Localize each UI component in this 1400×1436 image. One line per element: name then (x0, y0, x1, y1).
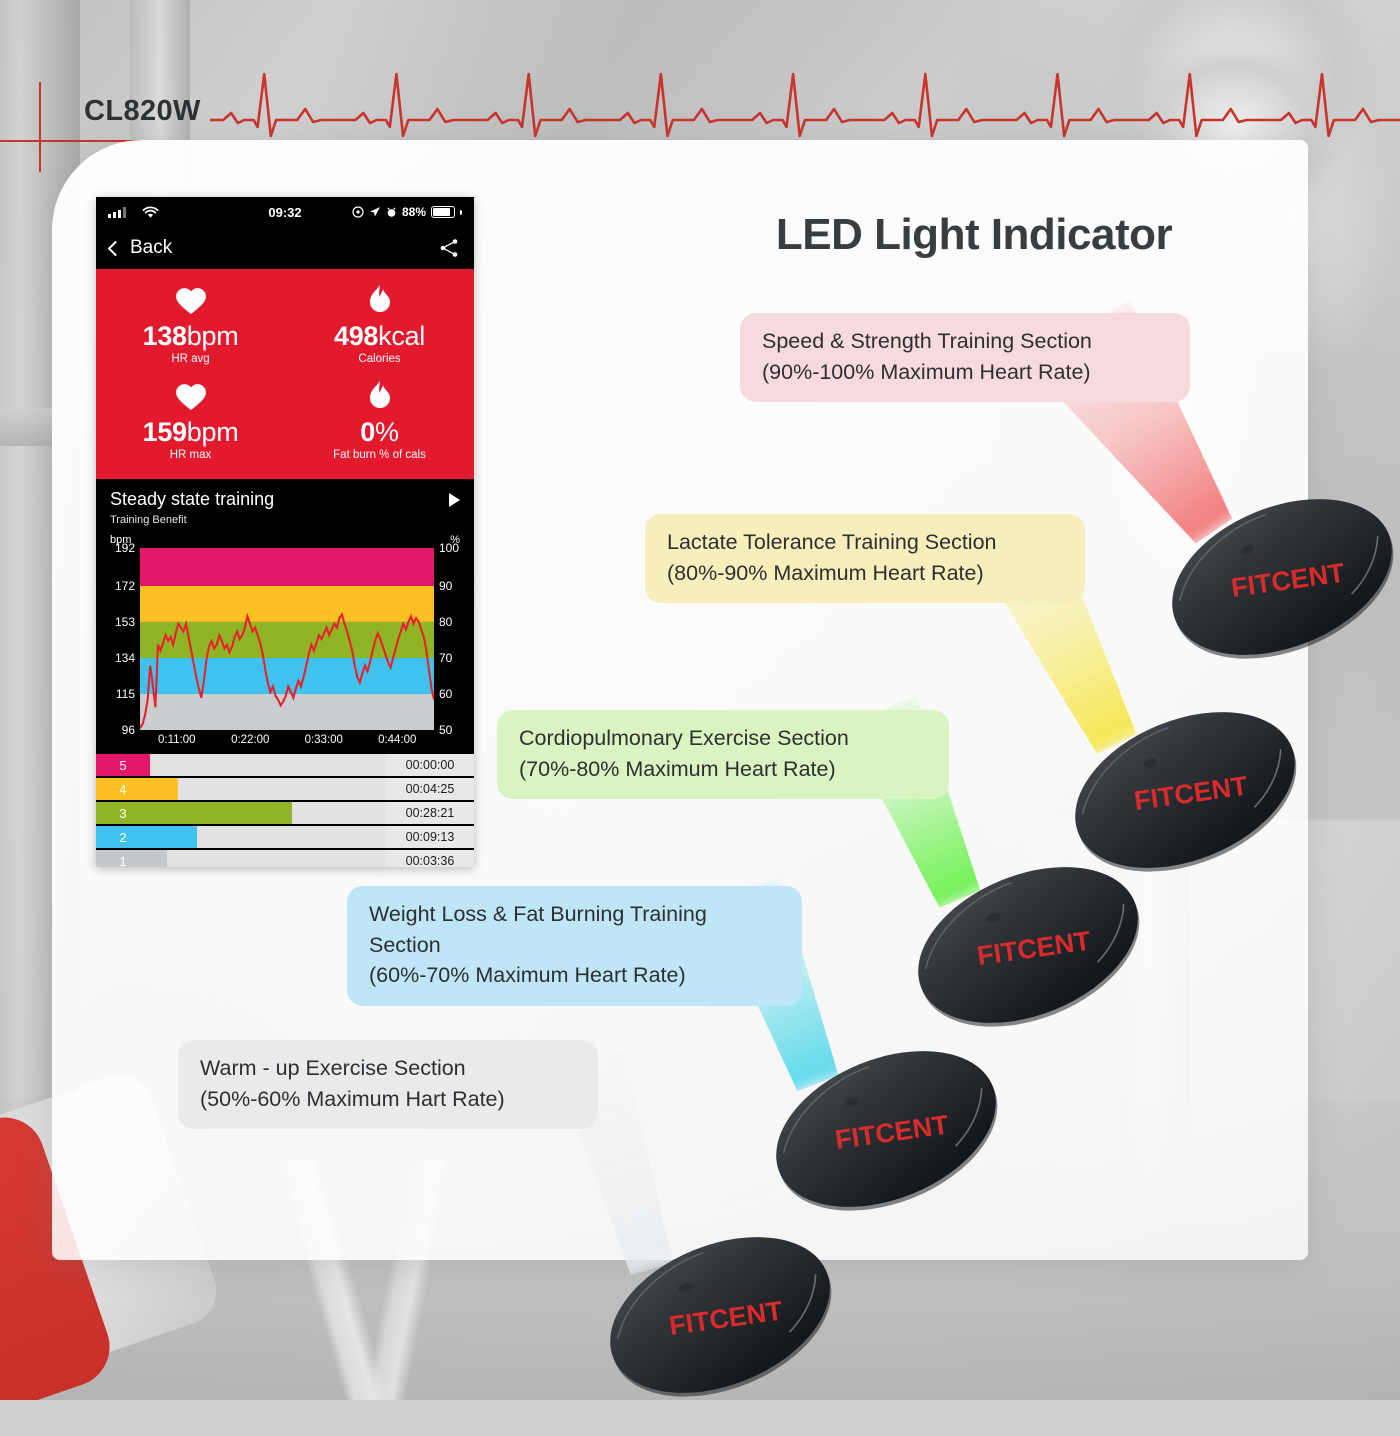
zone-duration: 00:09:13 (386, 826, 474, 848)
led-zone-callout: Lactate Tolerance Training Section(80%-9… (645, 514, 1085, 603)
callout-line-1: Speed & Strength Training Section (762, 326, 1168, 357)
battery-percent: 88% (402, 205, 426, 219)
phone-screenshot: 09:32 88% Back (96, 197, 474, 867)
page-title: LED Light Indicator (724, 210, 1224, 260)
chart-y-tick: 192 (115, 541, 135, 555)
led-zone-callout: Speed & Strength Training Section(90%-10… (740, 313, 1190, 402)
zone-number: 5 (96, 754, 150, 776)
zone-bar-track (150, 754, 386, 776)
phone-status-bar: 09:32 88% (96, 197, 474, 227)
accent-line-horizontal (0, 140, 140, 142)
stat-caption: HR max (96, 449, 285, 461)
zone-table-row: 100:03:36 (96, 850, 474, 867)
location-arrow-icon (369, 206, 381, 218)
chart-y-tick: 134 (115, 651, 135, 665)
chart-y-tick: 115 (116, 687, 135, 701)
led-zone-callout: Weight Loss & Fat Burning Training Secti… (347, 886, 802, 1006)
battery-tip (460, 210, 462, 215)
stat-fat-burn: 0% Fat burn % of cals (285, 379, 474, 461)
zone-bar-track (150, 826, 386, 848)
chart-x-tick: 0:44:00 (361, 734, 435, 746)
stat-unit: bpm (187, 417, 239, 447)
chart-subtitle: Training Benefit (96, 510, 474, 526)
chart-y2-tick: 90 (439, 579, 452, 593)
heart-icon (96, 379, 285, 413)
stat-value: 498 (334, 321, 378, 351)
zone-number: 1 (96, 850, 150, 867)
callout-line-1: Cordiopulmonary Exercise Section (519, 723, 927, 754)
chart-y2-tick: 60 (439, 687, 452, 701)
heart-icon (96, 283, 285, 317)
callout-line-1: Lactate Tolerance Training Section (667, 527, 1063, 558)
flame-icon (285, 379, 474, 413)
zone-table-row: 300:28:21 (96, 802, 474, 824)
back-button[interactable]: Back (110, 237, 172, 259)
stat-unit: % (375, 417, 399, 447)
zone-number: 4 (96, 778, 150, 800)
zone-number: 3 (96, 802, 150, 824)
callout-line-2: (80%-90% Maximum Heart Rate) (667, 558, 1063, 589)
alarm-icon (386, 206, 397, 218)
chart-y2-tick: 80 (439, 615, 452, 629)
zone-bar-track (150, 802, 386, 824)
callout-line-2: (50%-60% Maximum Hart Rate) (200, 1084, 576, 1115)
callout-line-1: Weight Loss & Fat Burning Training Secti… (369, 899, 780, 960)
stat-calories: 498kcal Calories (285, 283, 474, 365)
moon-icon (352, 206, 364, 218)
zone-duration: 00:04:25 (386, 778, 474, 800)
zone-duration: 00:00:00 (386, 754, 474, 776)
chart-y2-tick: 70 (439, 651, 452, 665)
stat-hr-avg: 138bpm HR avg (96, 283, 285, 365)
chart-x-labels: 0:11:000:22:000:33:000:44:00 (140, 730, 434, 752)
stats-row-1: 138bpm HR avg 498kcal Calories (96, 283, 474, 365)
stat-caption: HR avg (96, 353, 285, 365)
share-icon[interactable] (438, 237, 460, 259)
chart-x-tick: 0:33:00 (287, 734, 361, 746)
chevron-left-icon (108, 240, 124, 256)
zone-duration: 00:03:36 (386, 850, 474, 867)
chart-plot-area: 965011560134701538017290192100 (140, 548, 434, 730)
callout-line-2: (90%-100% Maximum Heart Rate) (762, 357, 1168, 388)
chart-y-tick: 153 (115, 615, 135, 629)
accent-line-vertical (39, 82, 41, 172)
stat-value: 0 (360, 417, 375, 447)
chart-y-tick: 96 (122, 723, 135, 737)
chart-y2-tick: 100 (439, 541, 459, 555)
zone-bar (150, 802, 292, 824)
flame-icon (285, 283, 474, 317)
zone-duration-table: 500:00:00400:04:25300:28:21200:09:13100:… (96, 752, 474, 867)
chart-title: Steady state training (110, 489, 274, 510)
zone-bar-track (150, 850, 386, 867)
zone-bar-track (150, 778, 386, 800)
stat-unit: kcal (378, 321, 425, 351)
zone-duration: 00:28:21 (386, 802, 474, 824)
stat-unit: bpm (187, 321, 239, 351)
stat-caption: Calories (285, 353, 474, 365)
play-triangle-icon[interactable] (449, 493, 460, 507)
zone-bar (150, 778, 178, 800)
stat-value: 138 (143, 321, 187, 351)
led-zone-callout: Cordiopulmonary Exercise Section(70%-80%… (497, 710, 949, 799)
callout-line-2: (70%-80% Maximum Heart Rate) (519, 754, 927, 785)
zone-table-row: 400:04:25 (96, 778, 474, 800)
phone-nav-bar: Back (96, 227, 474, 269)
stat-hr-max: 159bpm HR max (96, 379, 285, 461)
callout-line-2: (60%-70% Maximum Heart Rate) (369, 960, 780, 991)
led-zone-callout: Warm - up Exercise Section(50%-60% Maxim… (178, 1040, 598, 1129)
model-label: CL820W (84, 95, 201, 128)
stat-value: 159 (143, 417, 187, 447)
chart-header[interactable]: Steady state training (96, 489, 474, 510)
chart-x-tick: 0:22:00 (214, 734, 288, 746)
zone-bar (150, 850, 167, 867)
chart-hr-line (140, 548, 434, 730)
zone-table-row: 200:09:13 (96, 826, 474, 848)
chart-x-tick: 0:11:00 (140, 734, 214, 746)
battery-icon (431, 206, 455, 218)
zone-bar (150, 826, 197, 848)
zone-number: 2 (96, 826, 150, 848)
zone-table-row: 500:00:00 (96, 754, 474, 776)
chart-y2-tick: 50 (439, 723, 452, 737)
stats-panel: 138bpm HR avg 498kcal Calories 159bpm HR… (96, 269, 474, 479)
chart-y-tick: 172 (115, 579, 135, 593)
back-label: Back (130, 237, 172, 259)
stats-row-2: 159bpm HR max 0% Fat burn % of cals (96, 379, 474, 461)
callout-line-1: Warm - up Exercise Section (200, 1053, 576, 1084)
stat-caption: Fat burn % of cals (285, 449, 474, 461)
hr-chart: Steady state training Training Benefit b… (96, 479, 474, 752)
